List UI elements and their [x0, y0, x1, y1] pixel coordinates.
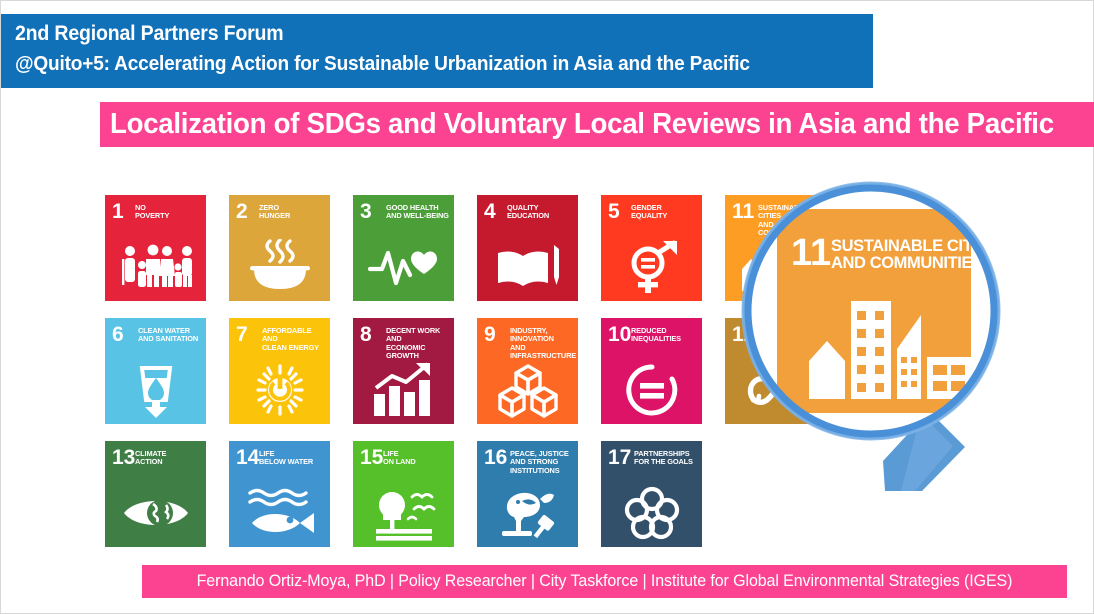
eye-earth-icon — [105, 484, 206, 542]
sdg-tile-14[interactable]: 14LIFE BELOW WATER — [229, 441, 330, 547]
sdg-label-12: RESPONSIBLE CONSUMPTION AND PRODUCTION — [758, 327, 822, 361]
sdg-tile-6[interactable]: 6CLEAN WATER AND SANITATION — [105, 318, 206, 424]
sdg-tile-9[interactable]: 9INDUSTRY, INNOVATION AND INFRASTRUCTURE — [477, 318, 578, 424]
sdg-number-5: 5 — [608, 202, 620, 222]
sdg-label-3: GOOD HEALTH AND WELL-BEING — [386, 204, 450, 221]
header-title-line-2: @Quito+5: Accelerating Action for Sustai… — [15, 49, 813, 79]
sdg-label-6: CLEAN WATER AND SANITATION — [138, 327, 202, 344]
header-title-line-1: 2nd Regional Partners Forum — [15, 18, 813, 49]
sdg-tile-12[interactable]: 12RESPONSIBLE CONSUMPTION AND PRODUCTION — [725, 318, 826, 424]
sdg-number-9: 9 — [484, 325, 496, 345]
sdg-tile-5[interactable]: 5GENDER EQUALITY — [601, 195, 702, 301]
footer-banner: Fernando Ortiz-Moya, PhD | Policy Resear… — [142, 565, 1067, 598]
sdg-tile-16[interactable]: 16PEACE, JUSTICE AND STRONG INSTITUTIONS — [477, 441, 578, 547]
sdg-number-14: 14 — [236, 448, 259, 468]
equals-circle-icon — [601, 361, 702, 419]
sdg-tile-4[interactable]: 4QUALITY EDUCATION — [477, 195, 578, 301]
sdg-number-13: 13 — [112, 448, 135, 468]
dove-gavel-icon — [477, 484, 578, 542]
infinity-icon — [725, 361, 826, 419]
sdg-number-4: 4 — [484, 202, 496, 222]
cubes-icon — [477, 361, 578, 419]
sdg-label-10: REDUCED INEQUALITIES — [631, 327, 698, 344]
svg-text:AND COMMUNITIES: AND COMMUNITIES — [831, 254, 983, 272]
slide-title: Localization of SDGs and Voluntary Local… — [110, 108, 1054, 141]
gender-equality-icon — [601, 238, 702, 296]
sdg-number-6: 6 — [112, 325, 124, 345]
tree-birds-icon — [353, 484, 454, 542]
sdg-tile-8[interactable]: 8DECENT WORK AND ECONOMIC GROWTH — [353, 318, 454, 424]
sdg-label-7: AFFORDABLE AND CLEAN ENERGY — [262, 327, 326, 352]
sdg-number-17: 17 — [608, 448, 631, 468]
sdg-label-1: NO POVERTY — [135, 204, 202, 221]
sdg-label-17: PARTNERSHIPS FOR THE GOALS — [634, 450, 698, 467]
sdg-tile-17[interactable]: 17PARTNERSHIPS FOR THE GOALS — [601, 441, 702, 547]
sdg-number-7: 7 — [236, 325, 248, 345]
sdg-tile-3[interactable]: 3GOOD HEALTH AND WELL-BEING — [353, 195, 454, 301]
slide-title-banner: Localization of SDGs and Voluntary Local… — [100, 102, 1094, 147]
header-banner: 2nd Regional Partners Forum @Quito+5: Ac… — [1, 14, 873, 88]
presentation-slide: 2nd Regional Partners Forum @Quito+5: Ac… — [0, 0, 1094, 614]
water-glass-icon — [105, 361, 206, 419]
sdg-label-15: LIFE ON LAND — [383, 450, 450, 467]
svg-text:SUSTAINABLE CITIES: SUSTAINABLE CITIES — [831, 237, 998, 255]
sdg-tile-13[interactable]: 13CLIMATE ACTION — [105, 441, 206, 547]
sdg-number-15: 15 — [360, 448, 383, 468]
growth-chart-icon — [353, 361, 454, 419]
sdg-number-8: 8 — [360, 325, 372, 345]
sdg-label-11: SUSTAINABLE CITIES AND COMMUNITIES — [758, 204, 822, 238]
sdg-number-12: 12 — [732, 325, 755, 345]
sdg-number-2: 2 — [236, 202, 248, 222]
footer-author-credits: Fernando Ortiz-Moya, PhD | Policy Resear… — [197, 572, 1013, 591]
sdg-tile-7[interactable]: 7AFFORDABLE AND CLEAN ENERGY — [229, 318, 330, 424]
sdg-tile-11[interactable]: 11SUSTAINABLE CITIES AND COMMUNITIES — [725, 195, 826, 301]
sdg-number-1: 1 — [112, 202, 124, 222]
family-icon — [105, 238, 206, 296]
heartbeat-icon — [353, 238, 454, 296]
sdg-goal-grid: 1NO POVERTY2ZERO HUNGER3GOOD HEALTH AND … — [105, 195, 826, 547]
sun-power-icon — [229, 361, 330, 419]
sdg-tile-15[interactable]: 15LIFE ON LAND — [353, 441, 454, 547]
sdg-tile-10[interactable]: 10REDUCED INEQUALITIES — [601, 318, 702, 424]
sdg-label-16: PEACE, JUSTICE AND STRONG INSTITUTIONS — [510, 450, 574, 475]
city-skyline-icon — [725, 238, 826, 296]
sdg-label-8: DECENT WORK AND ECONOMIC GROWTH — [386, 327, 450, 361]
sdg-number-10: 10 — [608, 325, 631, 345]
fish-waves-icon — [229, 484, 330, 542]
book-pencil-icon — [477, 238, 578, 296]
sdg-number-3: 3 — [360, 202, 372, 222]
sdg-label-14: LIFE BELOW WATER — [259, 450, 326, 467]
sdg-number-16: 16 — [484, 448, 507, 468]
sdg-label-2: ZERO HUNGER — [259, 204, 326, 221]
steaming-bowl-icon — [229, 238, 330, 296]
sdg-tile-2[interactable]: 2ZERO HUNGER — [229, 195, 330, 301]
sdg-label-5: GENDER EQUALITY — [631, 204, 698, 221]
magnifier-handle — [883, 411, 965, 491]
sdg-label-4: QUALITY EDUCATION — [507, 204, 574, 221]
sdg-number-11: 11 — [732, 202, 754, 222]
interlocked-circles-icon — [601, 484, 702, 542]
sdg-tile-1[interactable]: 1NO POVERTY — [105, 195, 206, 301]
sdg-label-9: INDUSTRY, INNOVATION AND INFRASTRUCTURE — [510, 327, 574, 361]
sdg-label-13: CLIMATE ACTION — [135, 450, 202, 467]
